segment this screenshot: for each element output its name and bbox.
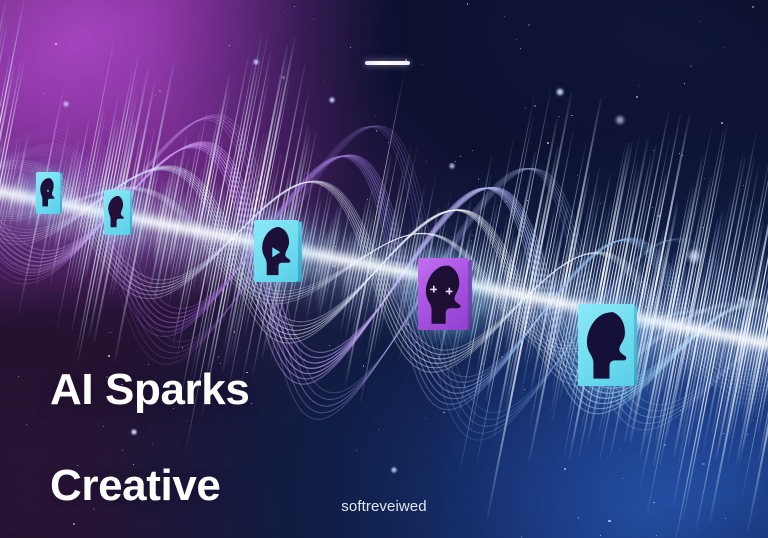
brand-watermark: softreveiwed [0, 498, 768, 515]
promo-banner: AI Sparks Creative Revolution softreveiw… [0, 0, 768, 538]
decorative-rule [365, 61, 410, 65]
headline-line-1: AI Sparks [50, 366, 273, 414]
